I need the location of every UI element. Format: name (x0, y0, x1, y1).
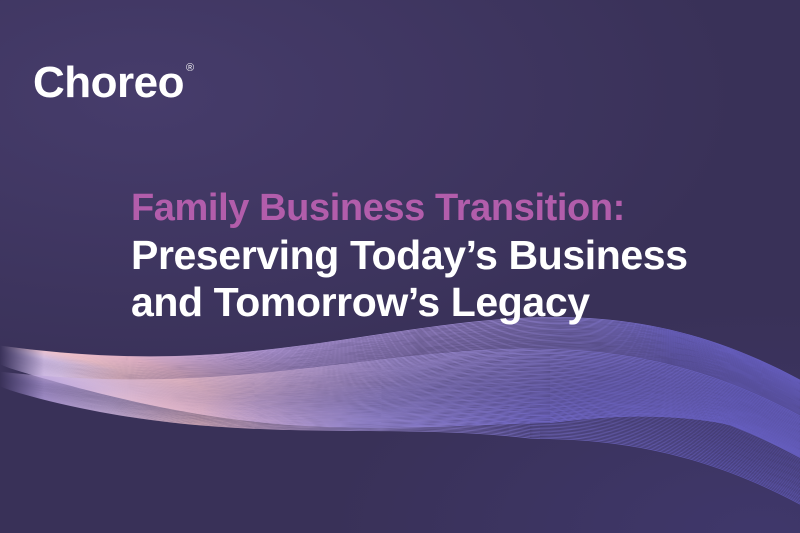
headline-line-2: Preserving Today’s Business (131, 232, 688, 279)
choreo-logo: Choreo ® (33, 61, 194, 105)
title-slide: Choreo ® Family Business Transition: Pre… (0, 0, 800, 533)
logo-wordmark: Choreo (33, 61, 184, 105)
headline-line-1: Family Business Transition: (131, 185, 688, 232)
slide-headline: Family Business Transition: Preserving T… (131, 185, 688, 326)
registered-trademark-icon: ® (186, 63, 194, 74)
headline-line-3: and Tomorrow’s Legacy (131, 279, 688, 326)
